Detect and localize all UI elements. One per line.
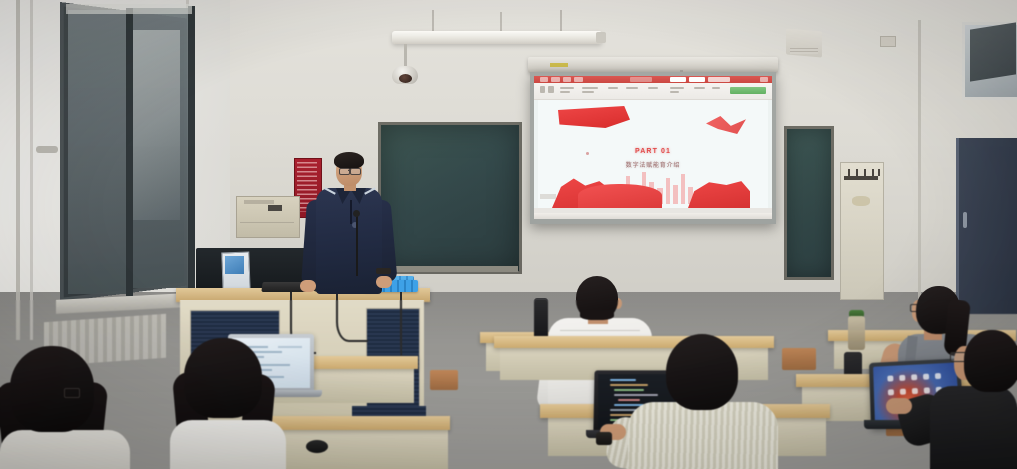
camera-lens-icon: [399, 74, 412, 83]
red-mountain-right: [688, 180, 750, 208]
coat-hook-icon: [848, 169, 850, 176]
wall-pilaster: [30, 0, 33, 340]
coat-hook-icon: [872, 169, 874, 176]
window-mullion: [188, 6, 195, 290]
glasses-icon: [64, 388, 80, 398]
toolbar-icon[interactable]: [582, 87, 598, 89]
student-left-front-body: [170, 420, 286, 469]
ribbon-tab[interactable]: [574, 77, 583, 82]
cable: [400, 292, 402, 356]
student-left-edge-body: [0, 430, 130, 469]
windows-taskbar[interactable]: [534, 213, 772, 219]
present-button[interactable]: [730, 87, 766, 94]
wall-box-seam: [240, 222, 294, 223]
toolbar-icon[interactable]: [540, 86, 545, 93]
presenter-torso: [316, 188, 382, 294]
projection-screen: PART 01 数字法赋能育介绍: [534, 76, 772, 219]
toolbar-icon[interactable]: [648, 87, 658, 89]
wall-pilaster: [16, 0, 20, 340]
code-line: [610, 384, 648, 386]
code-line: [614, 389, 644, 391]
cable: [336, 292, 368, 342]
presenter-hand-left: [300, 280, 316, 292]
window-controls-icon[interactable]: [760, 77, 768, 82]
light-hanger-rod: [432, 10, 434, 32]
coat-rack-bar: [844, 176, 878, 180]
side-blackboard: [784, 126, 834, 280]
app-icon[interactable]: [911, 374, 917, 380]
desk-body: [258, 428, 448, 469]
coat-hook-icon: [878, 169, 880, 176]
camera-mount: [404, 44, 407, 68]
toolbar-icon[interactable]: [582, 91, 594, 93]
slide-canvas[interactable]: PART 01 数字法赋能育介绍: [538, 100, 768, 208]
student-black-tee-body: [930, 386, 1017, 469]
toolbar-icon[interactable]: [712, 87, 720, 89]
presenter-shirt-placket: [350, 200, 352, 224]
computer-mouse[interactable]: [306, 440, 328, 453]
red-hill-center: [578, 184, 662, 208]
classroom-scene: PART 01 数字法赋能育介绍: [0, 0, 1017, 469]
window-mullion: [126, 8, 133, 296]
wall-sensor-icon: [880, 36, 896, 47]
toolbar-icon[interactable]: [670, 91, 679, 93]
window-latch-icon: [36, 146, 58, 153]
water-bottle: [848, 316, 865, 350]
app-icon[interactable]: [888, 389, 894, 395]
window-light-reflection: [130, 30, 180, 220]
student-striped-sweater-head: [666, 334, 738, 410]
student-desk: [494, 336, 774, 348]
toolbar-icon[interactable]: [548, 86, 554, 93]
ac-vent-icon: [790, 48, 818, 54]
podium-laptop-screen: [225, 256, 244, 274]
presenter-hair: [334, 152, 364, 169]
slide-thumbnail-tag: [540, 194, 556, 199]
coat-rack-board: [840, 162, 884, 300]
app-icon[interactable]: [935, 373, 941, 379]
smartwatch-icon: [596, 432, 612, 445]
light-end-cap: [596, 32, 606, 43]
screen-case-label: [550, 63, 568, 67]
ribbon-tab[interactable]: [689, 77, 705, 82]
glasses-bridge-icon: [348, 170, 351, 171]
coat-hook-icon: [856, 169, 858, 176]
ribbon-title: [630, 77, 652, 82]
chair-back: [782, 348, 816, 370]
coat-hook-icon: [864, 169, 866, 176]
ribbon-tab[interactable]: [551, 77, 560, 82]
ribbon-tab-active[interactable]: [670, 77, 686, 82]
app-icon[interactable]: [924, 387, 930, 393]
code-line: [614, 394, 658, 396]
shirt-seam: [560, 330, 640, 331]
chair-back: [430, 370, 458, 390]
toolbar-icon[interactable]: [608, 87, 618, 89]
red-ribbon-decoration: [706, 116, 746, 134]
fluorescent-light-icon: [392, 31, 602, 44]
ribbon-tab[interactable]: [708, 77, 730, 82]
main-blackboard: [378, 122, 522, 274]
student-striped-sweater-body: [628, 402, 778, 469]
toolbar-icon[interactable]: [694, 87, 705, 89]
window-transom-strip: [66, 4, 192, 14]
app-icon[interactable]: [912, 388, 918, 394]
app-icon[interactable]: [887, 375, 893, 381]
toolbar-icon[interactable]: [670, 87, 684, 89]
transom-pane: [970, 22, 1016, 81]
slide-title: PART 01: [538, 148, 768, 155]
toolbar-icon[interactable]: [626, 87, 638, 89]
thermos-flask: [534, 300, 548, 340]
ribbon-tab[interactable]: [540, 77, 548, 82]
student-left-front-head: [184, 338, 262, 418]
student-black-tee-head: [964, 330, 1017, 392]
doc-line: [278, 346, 302, 348]
light-hanger-rod: [500, 12, 502, 32]
code-line: [618, 399, 640, 401]
slide-subtitle: 数字法赋能育介绍: [538, 160, 768, 169]
app-icon[interactable]: [923, 374, 929, 380]
app-icon[interactable]: [900, 389, 906, 395]
student-hair: [580, 310, 614, 320]
toolbar-icon[interactable]: [560, 91, 570, 93]
student-hand: [886, 398, 912, 414]
wall-box-vent: [268, 205, 282, 211]
wristwatch-icon: [376, 268, 391, 274]
red-flag-decoration: [558, 106, 630, 128]
wall-conduit: [918, 20, 921, 300]
code-line: [610, 379, 636, 381]
glasses-icon: [350, 168, 361, 175]
chalk-tray: [378, 266, 518, 272]
app-icon[interactable]: [899, 375, 905, 381]
light-hanger-rod: [560, 10, 562, 32]
wall-box-label: [244, 200, 274, 204]
door-handle-icon[interactable]: [963, 212, 967, 228]
microphone-stand: [356, 214, 358, 276]
toolbar-icon[interactable]: [560, 87, 574, 89]
window-pane: [68, 10, 126, 294]
microphone-icon: [353, 210, 360, 217]
ribbon-tab[interactable]: [563, 77, 571, 82]
student-left-edge-head: [10, 346, 94, 432]
coat-rack-mark: [852, 196, 870, 206]
presenter-hand-right: [376, 276, 392, 288]
powerpoint-ribbon[interactable]: [534, 76, 772, 83]
